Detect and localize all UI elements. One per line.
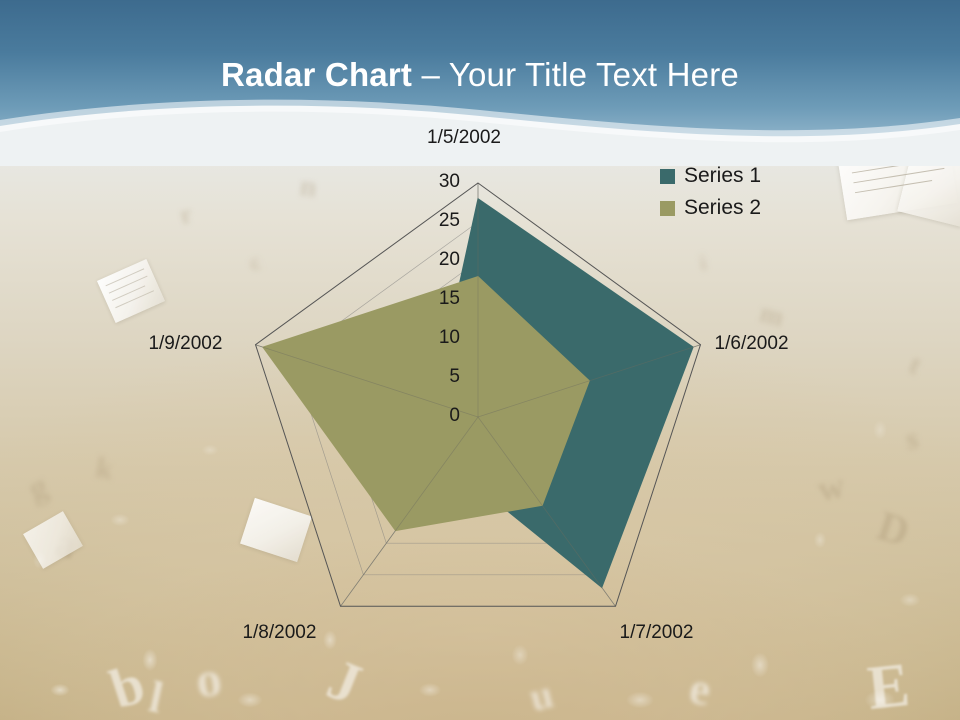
legend-label-series-2: Series 2	[684, 196, 761, 220]
page-title-light: – Your Title Text Here	[412, 56, 739, 93]
radial-tick-25: 25	[416, 210, 460, 232]
radar-chart: 051015202530 1/5/20021/6/20021/7/20021/8…	[0, 130, 960, 720]
legend-label-series-1: Series 1	[684, 164, 761, 188]
page-title-strong: Radar Chart	[221, 56, 412, 93]
legend-item-series-2[interactable]: Series 2	[660, 192, 761, 224]
slide: b l o J u e E a g k w D s t r n c m i	[0, 0, 960, 720]
page-title: Radar Chart – Your Title Text Here	[0, 56, 960, 94]
series-2-swatch-icon	[660, 201, 675, 216]
radial-tick-30: 30	[416, 171, 460, 193]
radial-tick-15: 15	[416, 288, 460, 310]
radial-tick-20: 20	[416, 249, 460, 271]
category-label-1-6-2002: 1/6/2002	[715, 333, 789, 355]
category-label-1-8-2002: 1/8/2002	[242, 622, 316, 644]
legend-item-series-1[interactable]: Series 1	[660, 160, 761, 192]
chart-legend: Series 1 Series 2	[660, 160, 761, 224]
category-label-1-7-2002: 1/7/2002	[620, 622, 694, 644]
radial-tick-10: 10	[416, 327, 460, 349]
category-label-1-9-2002: 1/9/2002	[148, 333, 222, 355]
series-1-swatch-icon	[660, 169, 675, 184]
radial-tick-5: 5	[416, 366, 460, 388]
radial-tick-0: 0	[416, 405, 460, 427]
category-label-1-5-2002: 1/5/2002	[427, 127, 501, 149]
radar-plot-area	[0, 130, 960, 720]
